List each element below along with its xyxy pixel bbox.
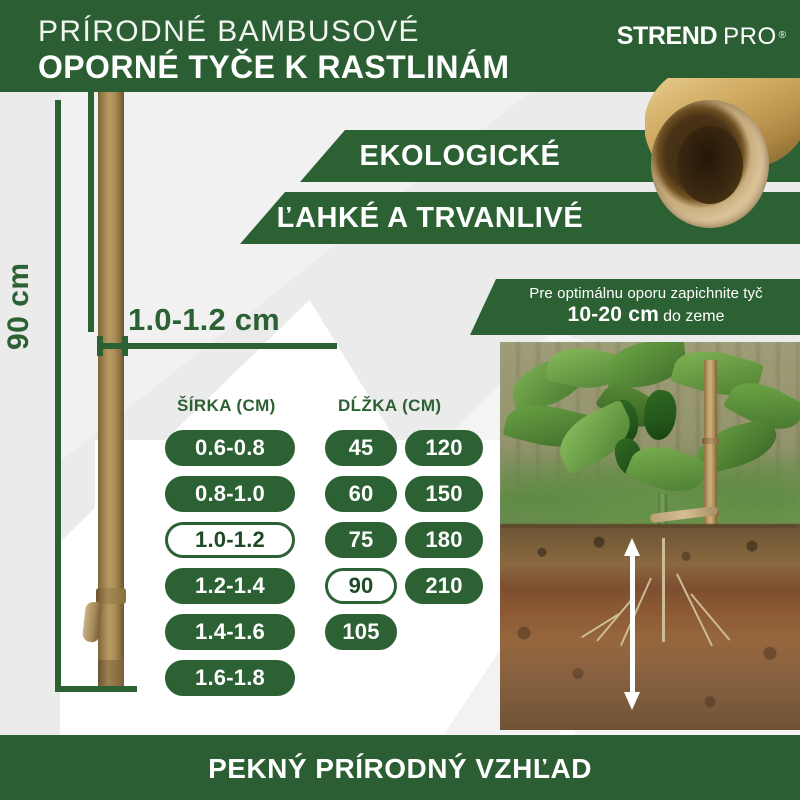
photo-root: [662, 538, 665, 642]
depth-arrow-icon: [624, 538, 640, 710]
height-bracket-bottom-cap: [55, 686, 137, 692]
column-header-length: DĹŽKA (CM): [338, 396, 441, 416]
feature-banner-eco-label: EKOLOGICKÉ: [360, 140, 561, 173]
size-option-length[interactable]: 180: [405, 522, 483, 558]
length-value-column-b: 120150180210: [405, 430, 483, 614]
height-bracket: [55, 100, 145, 692]
size-option-width[interactable]: 0.6-0.8: [165, 430, 295, 466]
height-bracket-line: [55, 100, 61, 692]
size-option-length[interactable]: 210: [405, 568, 483, 604]
garden-usage-photo: [500, 342, 800, 730]
footer-tagline: PEKNÝ PRÍRODNÝ VZHĽAD: [208, 753, 592, 785]
brand-name-sub: PRO: [723, 23, 777, 50]
depth-arrow-shaft: [630, 552, 635, 698]
bamboo-tube-hollow: [677, 126, 743, 204]
registered-trademark-icon: ®: [779, 30, 786, 41]
size-option-width[interactable]: 0.8-1.0: [165, 476, 295, 512]
footer-bar: PEKNÝ PRÍRODNÝ VZHĽAD: [0, 738, 800, 800]
planting-depth-value: 10-20 cm: [567, 303, 659, 326]
size-spec-columns: 0.6-0.80.8-1.01.0-1.21.2-1.41.4-1.61.6-1…: [165, 430, 490, 700]
planting-tip-banner: Pre optimálnu oporu zapichnite tyč 10-20…: [470, 279, 800, 335]
size-option-width[interactable]: 1.4-1.6: [165, 614, 295, 650]
size-option-length[interactable]: 45: [325, 430, 397, 466]
width-measurement-label: 1.0-1.2 cm: [128, 302, 280, 338]
planting-tip-line1: Pre optimálnu oporu zapichnite tyč: [500, 285, 792, 302]
infographic-page: PRÍRODNÉ BAMBUSOVÉ OPORNÉ TYČE K RASTLIN…: [0, 0, 800, 800]
width-value-column: 0.6-0.80.8-1.01.0-1.21.2-1.41.4-1.61.6-1…: [165, 430, 295, 706]
size-option-length-selected[interactable]: 90: [325, 568, 397, 604]
brand-name-main: STREND: [617, 22, 717, 50]
planting-tip-line2: 10-20 cm do zeme: [500, 303, 792, 327]
column-header-width: ŠÍRKA (CM): [177, 396, 276, 416]
width-bracket-tick-left: [97, 336, 103, 356]
length-value-column-a: 45607590105: [325, 430, 397, 660]
planting-tip-suffix: do zeme: [663, 308, 724, 325]
page-title-line1: PRÍRODNÉ BAMBUSOVÉ: [38, 15, 420, 49]
width-bracket-tick-right: [122, 336, 128, 356]
brand-logo: STRENDPRO®: [617, 22, 786, 51]
size-option-length[interactable]: 60: [325, 476, 397, 512]
photo-soil-texture: [500, 528, 800, 730]
size-option-length[interactable]: 120: [405, 430, 483, 466]
feature-banner-durable-label: ĽAHKÉ A TRVANLIVÉ: [277, 202, 584, 235]
size-option-length[interactable]: 105: [325, 614, 397, 650]
size-option-length[interactable]: 75: [325, 522, 397, 558]
height-bracket-top-cap: [55, 100, 61, 106]
size-option-width-selected[interactable]: 1.0-1.2: [165, 522, 295, 558]
depth-arrow-head-down: [624, 692, 640, 710]
photo-stake-node: [702, 438, 719, 444]
size-spec-table: ŠÍRKA (CM) DĹŽKA (CM) 0.6-0.80.8-1.01.0-…: [165, 396, 490, 700]
width-bracket-line: [97, 343, 337, 349]
page-title-line2: OPORNÉ TYČE K RASTLINÁM: [38, 49, 509, 86]
bamboo-cutaway-photo: [645, 78, 800, 253]
height-measurement-label: 90 cm: [2, 262, 36, 350]
size-spec-table-headers: ŠÍRKA (CM) DĹŽKA (CM): [165, 396, 490, 426]
size-option-width[interactable]: 1.6-1.8: [165, 660, 295, 696]
size-option-length[interactable]: 150: [405, 476, 483, 512]
size-option-width[interactable]: 1.2-1.4: [165, 568, 295, 604]
